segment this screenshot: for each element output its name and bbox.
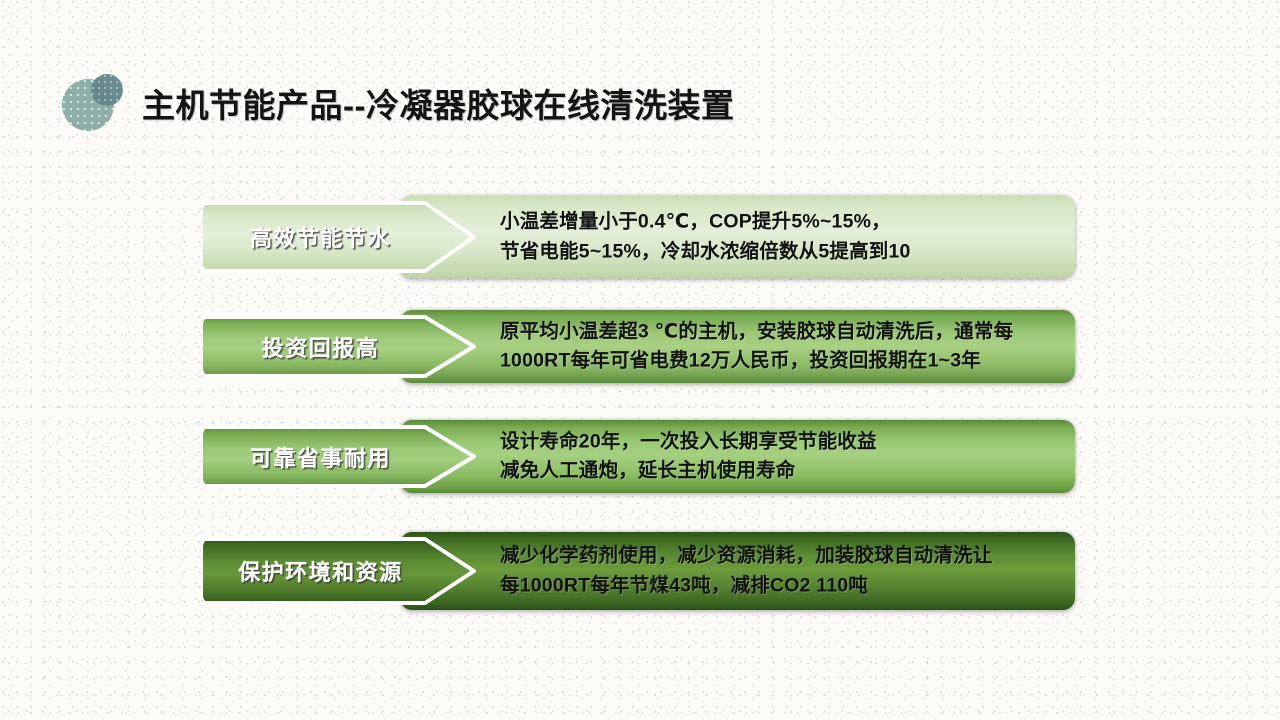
page-title: 主机节能产品--冷凝器胶球在线清洗装置: [142, 84, 734, 128]
decorative-circle-small-icon: [91, 74, 123, 106]
benefit-description-line: 设计寿命20年，一次投入长期享受节能收益: [500, 427, 1059, 457]
benefit-description-line: 1000RT每年可省电费12万人民币，投资回报期在1~3年: [500, 347, 1059, 377]
benefit-description-text: 原平均小温差超3 ℃的主机，安装胶球自动清洗后，通常每 1000RT每年可省电费…: [500, 317, 1059, 376]
benefit-description-line: 小温差增量小于0.4℃，COP提升5%~15%，: [500, 207, 1059, 237]
benefit-row: 原平均小温差超3 ℃的主机，安装胶球自动清洗后，通常每 1000RT每年可省电费…: [203, 310, 1075, 383]
benefit-description-line: 减免人工通炮，延长主机使用寿命: [500, 457, 1059, 487]
slide-canvas: 主机节能产品--冷凝器胶球在线清洗装置 小温差增量小于0.4℃，COP提升5%~…: [0, 0, 1280, 720]
benefit-label: 可靠省事耐用: [203, 426, 438, 487]
benefit-description-line: 节省电能5~15%，冷却水浓缩倍数从5提高到10: [500, 237, 1059, 267]
benefit-description-line: 原平均小温差超3 ℃的主机，安装胶球自动清洗后，通常每: [500, 317, 1059, 347]
benefit-description-line: 每1000RT每年节煤43吨，减排CO2 110吨: [500, 571, 1059, 601]
benefit-label: 高效节能节水: [203, 202, 438, 272]
slide-header: 主机节能产品--冷凝器胶球在线清洗装置: [0, 34, 1280, 114]
benefit-label: 投资回报高: [203, 316, 438, 377]
benefit-label: 保护环境和资源: [203, 538, 438, 604]
benefit-description-text: 小温差增量小于0.4℃，COP提升5%~15%， 节省电能5~15%，冷却水浓缩…: [500, 207, 1059, 266]
benefit-description-text: 设计寿命20年，一次投入长期享受节能收益 减免人工通炮，延长主机使用寿命: [500, 427, 1059, 486]
benefit-row: 小温差增量小于0.4℃，COP提升5%~15%， 节省电能5~15%，冷却水浓缩…: [203, 196, 1075, 278]
benefit-row: 减少化学药剂使用，减少资源消耗，加装胶球自动清洗让 每1000RT每年节煤43吨…: [203, 532, 1075, 610]
benefit-row: 设计寿命20年，一次投入长期享受节能收益 减免人工通炮，延长主机使用寿命 可靠省…: [203, 420, 1075, 493]
benefit-description-text: 减少化学药剂使用，减少资源消耗，加装胶球自动清洗让 每1000RT每年节煤43吨…: [500, 541, 1059, 600]
benefit-description-line: 减少化学药剂使用，减少资源消耗，加装胶球自动清洗让: [500, 541, 1059, 571]
